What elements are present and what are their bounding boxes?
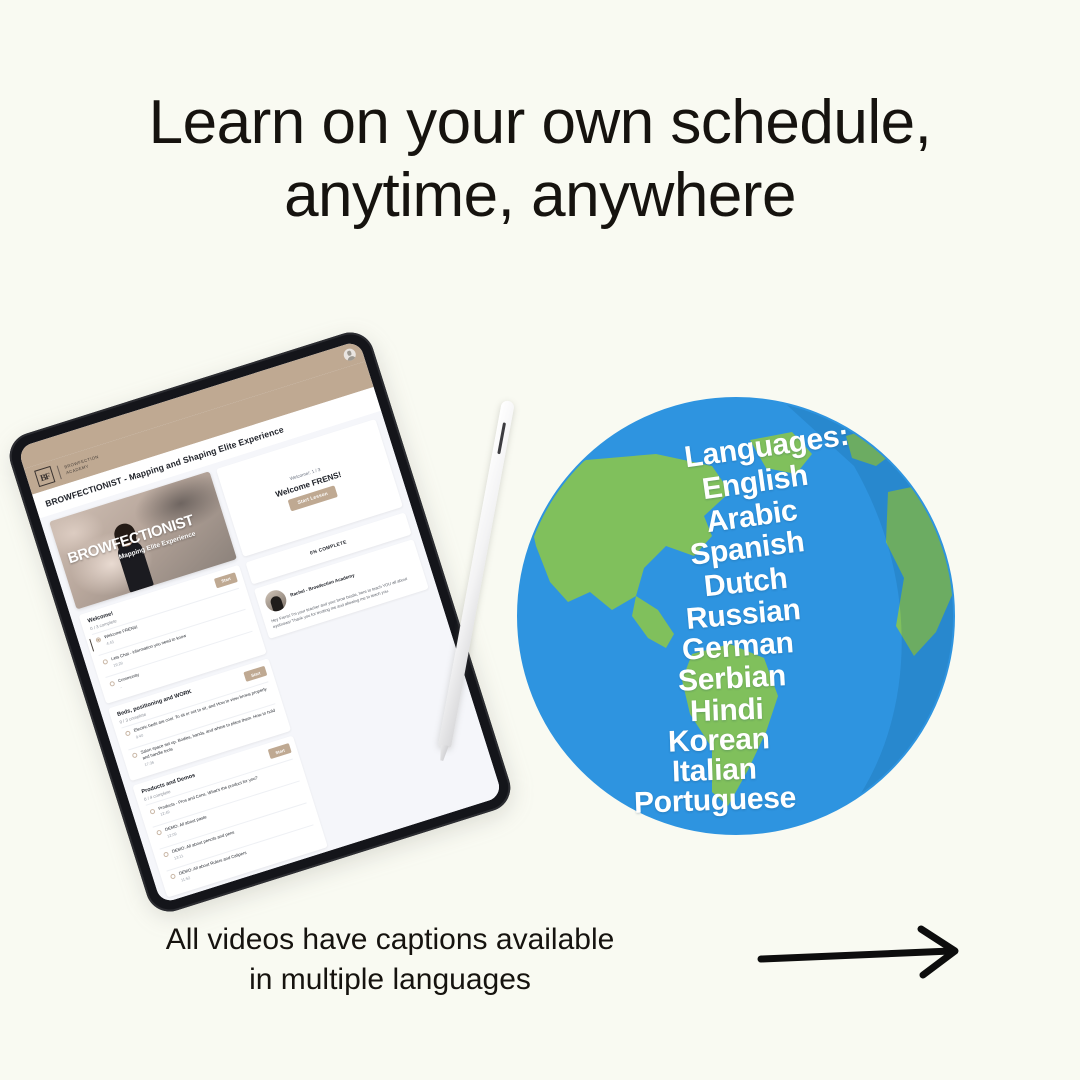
poster-canvas: Learn on your own schedule, anytime, any… bbox=[0, 0, 1080, 1080]
globe-svg bbox=[516, 396, 956, 836]
caption-line-1: All videos have captions available bbox=[166, 923, 615, 956]
lesson-status-icon bbox=[156, 830, 162, 836]
right-arrow-icon bbox=[755, 915, 970, 985]
lesson-status-icon bbox=[149, 808, 155, 814]
caption-line-2: in multiple languages bbox=[60, 960, 720, 1000]
lesson-status-icon bbox=[132, 752, 138, 758]
lesson-status-icon bbox=[109, 681, 115, 687]
lesson-status-icon bbox=[102, 659, 108, 665]
brand-monogram-icon: BF bbox=[34, 466, 55, 487]
footer-caption: All videos have captions available in mu… bbox=[60, 920, 720, 1000]
headline-line-1: Learn on your own schedule, bbox=[149, 88, 932, 157]
user-avatar-icon[interactable] bbox=[342, 347, 357, 362]
lesson-status-icon bbox=[170, 874, 176, 880]
brand-wordmark: BROWFECTION ACADEMY bbox=[64, 454, 102, 476]
globe-graphic: Languages: English Arabic Spanish Dutch … bbox=[516, 396, 956, 836]
page-title: Learn on your own schedule, anytime, any… bbox=[0, 86, 1080, 232]
instructor-avatar bbox=[263, 588, 289, 614]
logo-divider bbox=[57, 465, 62, 479]
lesson-status-icon bbox=[163, 852, 169, 858]
tablet-screen: BF BROWFECTION ACADEMY BROWFECTIONIST - … bbox=[17, 340, 502, 904]
lesson-status-icon bbox=[125, 731, 131, 737]
lesson-status-icon bbox=[95, 637, 101, 643]
headline-line-2: anytime, anywhere bbox=[0, 159, 1080, 232]
active-lesson-bar bbox=[89, 639, 94, 652]
